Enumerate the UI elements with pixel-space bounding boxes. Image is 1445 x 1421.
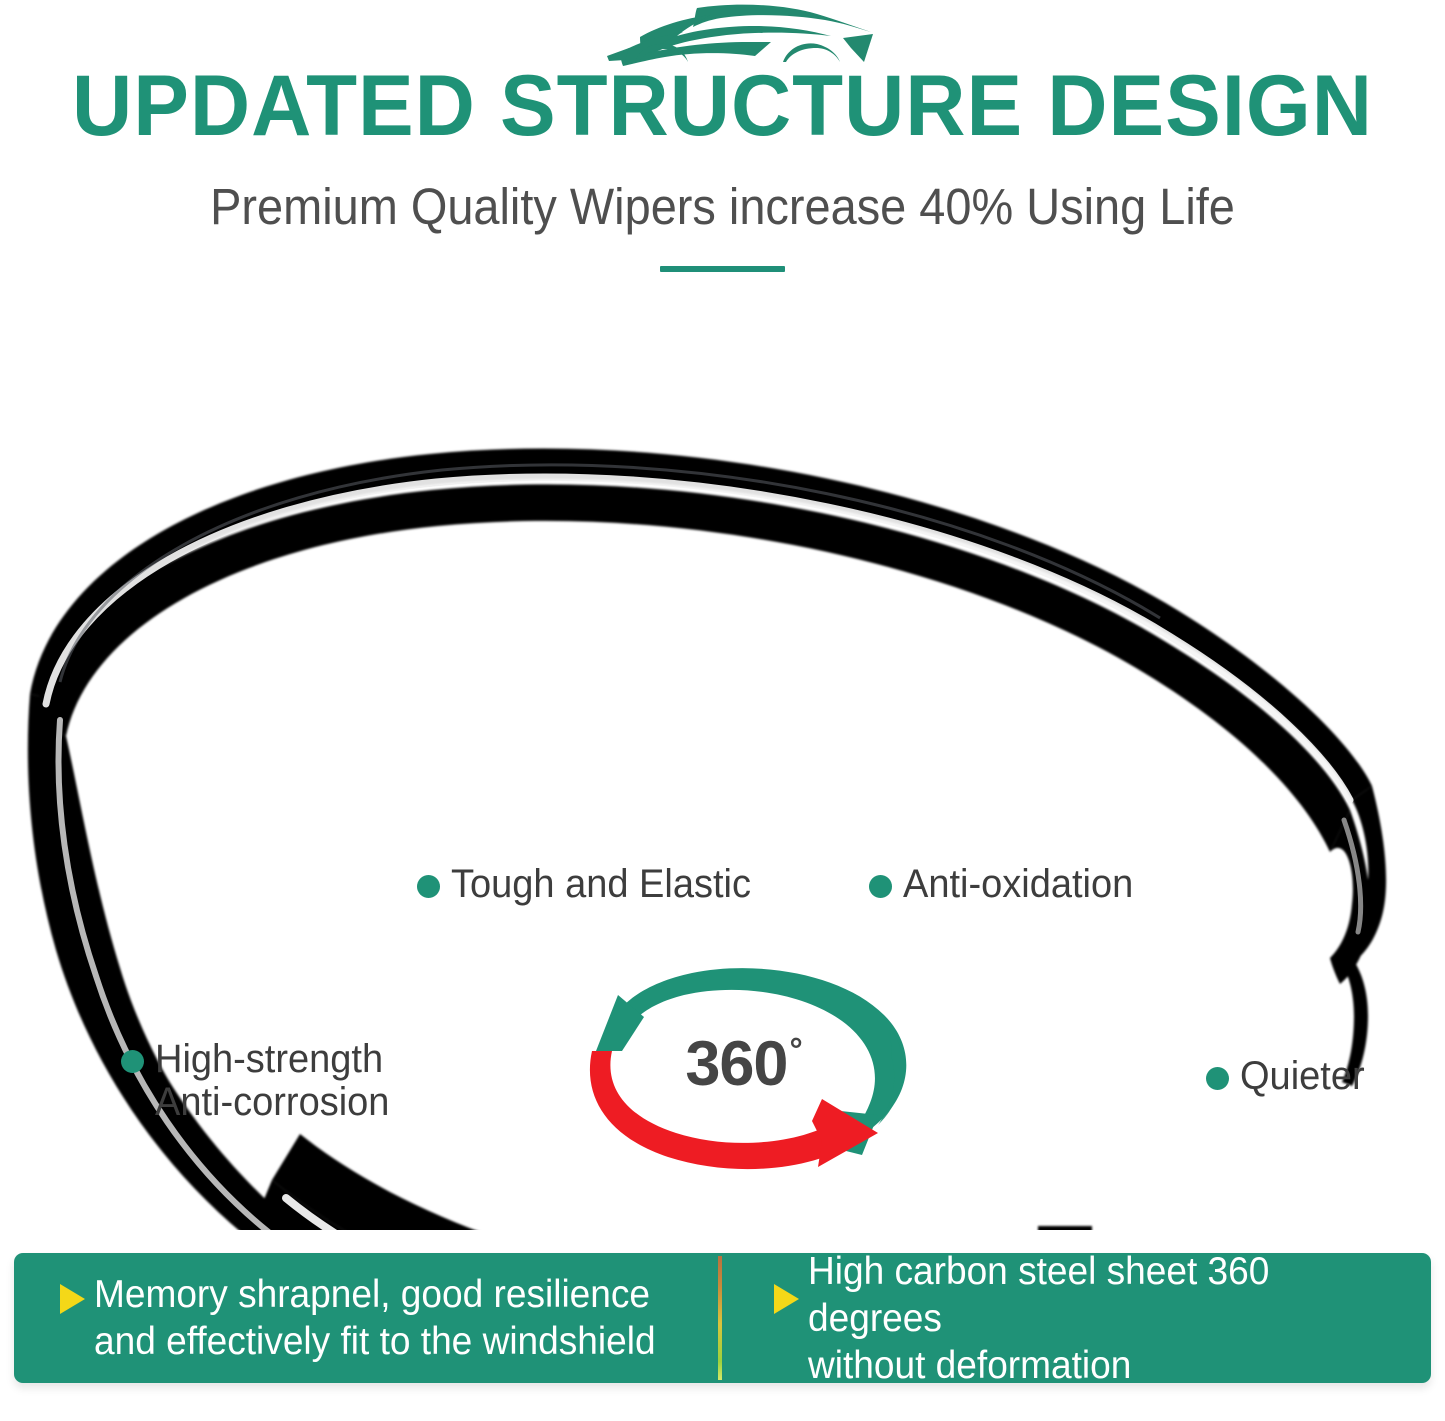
banner-text: Memory shrapnel, good resilience and eff…: [94, 1271, 656, 1365]
triangle-bullet-icon: [774, 1284, 799, 1314]
banner-item-high-carbon-steel: High carbon steel sheet 360 degrees with…: [722, 1253, 1432, 1383]
banner-text-line1: Memory shrapnel, good resilience: [94, 1273, 650, 1316]
bullet-dot-icon: [121, 1050, 144, 1073]
page-title: UPDATED STRUCTURE DESIGN: [22, 62, 1424, 150]
car-silhouette-icon: [585, 4, 875, 66]
product-image-area: Tough and Elastic Anti-oxidation High-st…: [0, 300, 1445, 1230]
triangle-bullet-icon: [60, 1284, 85, 1314]
bullet-dot-icon: [417, 875, 440, 898]
feature-quieter: Quieter: [1206, 1055, 1371, 1098]
360-degree-badge: 360°: [560, 955, 930, 1170]
feature-tough-and-elastic: Tough and Elastic: [417, 863, 767, 906]
feature-label-line1: High-strength: [155, 1037, 383, 1081]
bottom-feature-banner: Memory shrapnel, good resilience and eff…: [14, 1253, 1431, 1383]
360-label: 360°: [560, 955, 930, 1170]
feature-label: Tough and Elastic: [451, 863, 751, 906]
feature-label: Quieter: [1240, 1055, 1365, 1098]
banner-text: High carbon steel sheet 360 degrees with…: [808, 1248, 1400, 1389]
degree-symbol: °: [789, 1031, 802, 1069]
banner-text-line1: High carbon steel sheet 360 degrees: [808, 1250, 1269, 1340]
header-section: UPDATED STRUCTURE DESIGN Premium Quality…: [0, 0, 1445, 300]
feature-label-line2: Anti-corrosion: [155, 1080, 389, 1124]
title-divider: [660, 266, 785, 272]
page-subtitle: Premium Quality Wipers increase 40% Usin…: [58, 178, 1387, 236]
feature-label: Anti-oxidation: [903, 863, 1133, 906]
banner-text-line2: and effectively fit to the windshield: [94, 1320, 656, 1363]
feature-label-block: High-strength Anti-corrosion: [155, 1038, 389, 1124]
360-number: 360: [685, 1028, 787, 1100]
banner-text-line2: without deformation: [808, 1344, 1131, 1387]
bullet-dot-icon: [1206, 1067, 1229, 1090]
banner-item-memory-shrapnel: Memory shrapnel, good resilience and eff…: [14, 1253, 718, 1383]
feature-anti-oxidation: Anti-oxidation: [869, 863, 1145, 906]
bullet-dot-icon: [869, 875, 892, 898]
feature-high-strength-anti-corrosion: High-strength Anti-corrosion: [121, 1038, 402, 1124]
